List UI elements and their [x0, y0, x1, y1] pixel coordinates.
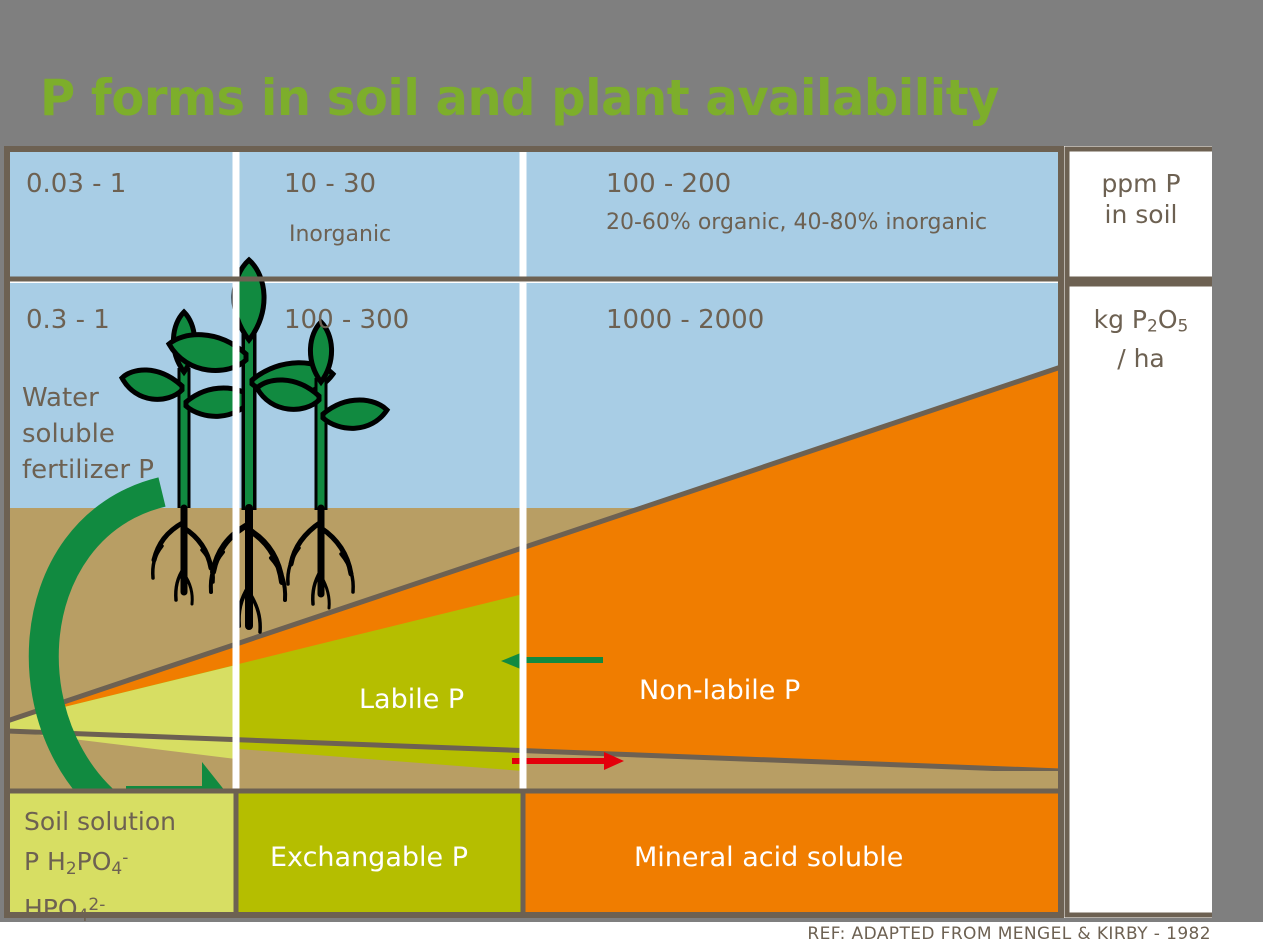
reference-text: REF: ADAPTED FROM MENGEL & KIRBY - 1982 [807, 924, 1211, 944]
row2-cell3-value: 1000 - 2000 [606, 304, 926, 336]
non-labile-label: Non-labile P [639, 675, 939, 706]
unit-kg-line2: / ha [1069, 343, 1213, 374]
diagram-svg [4, 146, 1212, 918]
p-forms-diagram: 0.03 - 1 10 - 30 Inorganic 100 - 200 20-… [4, 146, 1212, 918]
row1-cell1-value: 0.03 - 1 [26, 168, 226, 200]
page-title: P forms in soil and plant availability [40, 68, 1048, 128]
row1-cell3-value: 100 - 200 [606, 168, 1036, 200]
soil-solution-line1: Soil solution [24, 804, 239, 840]
fertilizer-label: Water soluble fertilizer P [22, 380, 212, 488]
row1-cell2-value: 10 - 30 [284, 168, 504, 200]
fertilizer-label-line2: soluble [22, 416, 212, 452]
row1-cell3-sub: 20-60% organic, 40-80% inorganic [606, 204, 1026, 241]
fertilizer-label-line3: fertilizer P [22, 452, 212, 488]
unit-kg-label: kg P2O5 / ha [1069, 304, 1213, 374]
row1-cell2-sub: Inorganic [289, 220, 549, 249]
row2-cell2-value: 100 - 300 [284, 304, 524, 336]
bottom-label-soil-solution: Soil solution P H2PO4- HPO42- [24, 804, 239, 934]
bottom-label-exchangable: Exchangable P [270, 842, 530, 873]
row2-cell1-value: 0.3 - 1 [26, 304, 246, 336]
unit-kg-line1: kg P2O5 [1069, 304, 1213, 343]
fertilizer-label-line1: Water [22, 380, 212, 416]
main-panel [7, 149, 1061, 915]
unit-ppm-line2: in soil [1069, 199, 1213, 230]
unit-ppm-label: ppm P in soil [1069, 168, 1213, 230]
unit-ppm-line1: ppm P [1069, 168, 1213, 199]
soil-solution-line2: P H2PO4- [24, 840, 239, 887]
bottom-label-mineral: Mineral acid soluble [634, 842, 1034, 873]
slide-canvas: P forms in soil and plant availability [0, 0, 1263, 947]
labile-label: Labile P [359, 684, 579, 715]
unit-cell-kg [1067, 284, 1212, 915]
reference-strip: REF: ADAPTED FROM MENGEL & KIRBY - 1982 [0, 922, 1263, 947]
